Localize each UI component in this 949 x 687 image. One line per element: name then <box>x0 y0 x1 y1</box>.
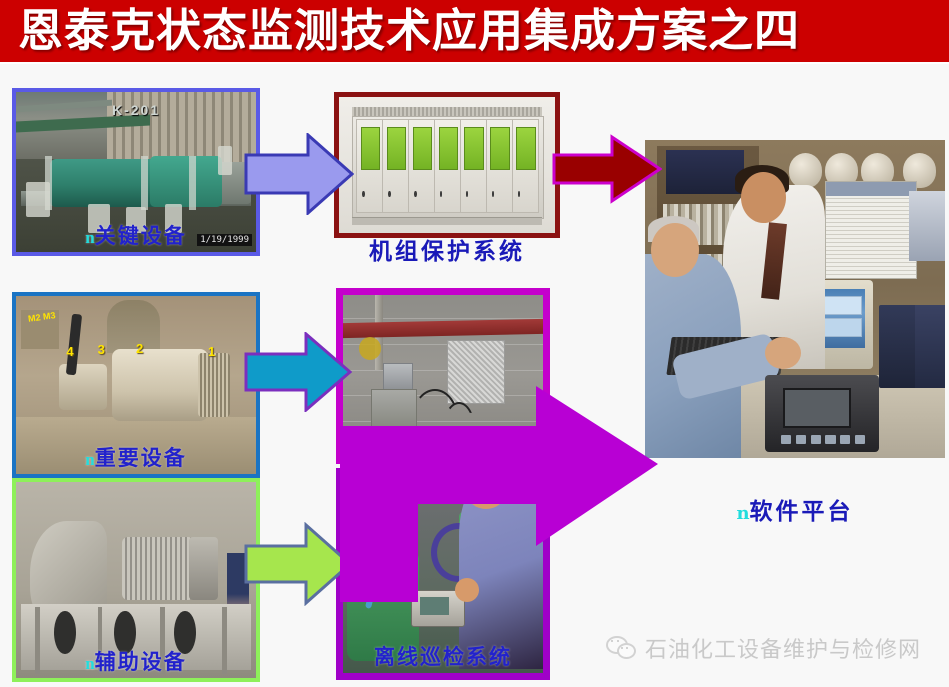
watermark-text: 石油化工设备维护与检修网 <box>645 632 921 664</box>
arrow-auxiliary-to-offline <box>244 522 352 606</box>
panel-key-equipment[interactable]: K-201 1/19/1999 n关键设备 <box>12 88 260 256</box>
arrow-important-to-auto <box>244 332 352 412</box>
caption-software-platform: n软件平台 <box>645 492 945 526</box>
bullet-glyph: n <box>736 503 749 524</box>
caption-text: 软件平台 <box>750 498 854 525</box>
page-title: 恩泰克状态监测技术应用集成方案之四 <box>18 1 933 61</box>
panel-software-platform[interactable] <box>645 140 945 458</box>
title-banner: 恩泰克状态监测技术应用集成方案之四 <box>0 0 949 62</box>
arrow-key-to-protection <box>244 133 354 215</box>
arrow-inspection-to-software <box>340 386 660 606</box>
photo-software-platform <box>645 140 945 458</box>
photo-protection-rack <box>339 97 555 233</box>
slide-canvas: 恩泰克状态监测技术应用集成方案之四 K-201 1/19/1999 n关键设 <box>0 0 949 687</box>
marker-2: 2 <box>136 341 143 356</box>
panel-important-equipment[interactable]: M2 M3 4 3 2 1 n重要设备 <box>12 292 260 478</box>
marker-3: 3 <box>98 342 105 357</box>
watermark: 石油化工设备维护与检修网 <box>606 631 921 665</box>
photo-datestamp: 1/19/1999 <box>197 234 252 246</box>
arrow-protection-to-software <box>552 133 662 205</box>
panel-auxiliary-equipment[interactable]: n辅助设备 <box>12 478 260 682</box>
photo-auxiliary-equipment <box>16 482 256 678</box>
marker-1: 1 <box>208 344 215 359</box>
marker-4: 4 <box>66 344 73 359</box>
panel-protection-system[interactable] <box>334 92 560 238</box>
photo-important-equipment: M2 M3 4 3 2 1 <box>16 296 256 474</box>
wechat-bubbles-icon <box>606 636 636 660</box>
caption-protection-system: 机组保护系统 <box>334 232 560 266</box>
photo-key-equipment: K-201 1/19/1999 <box>16 92 256 252</box>
equipment-tag-k201: K-201 <box>112 102 160 118</box>
